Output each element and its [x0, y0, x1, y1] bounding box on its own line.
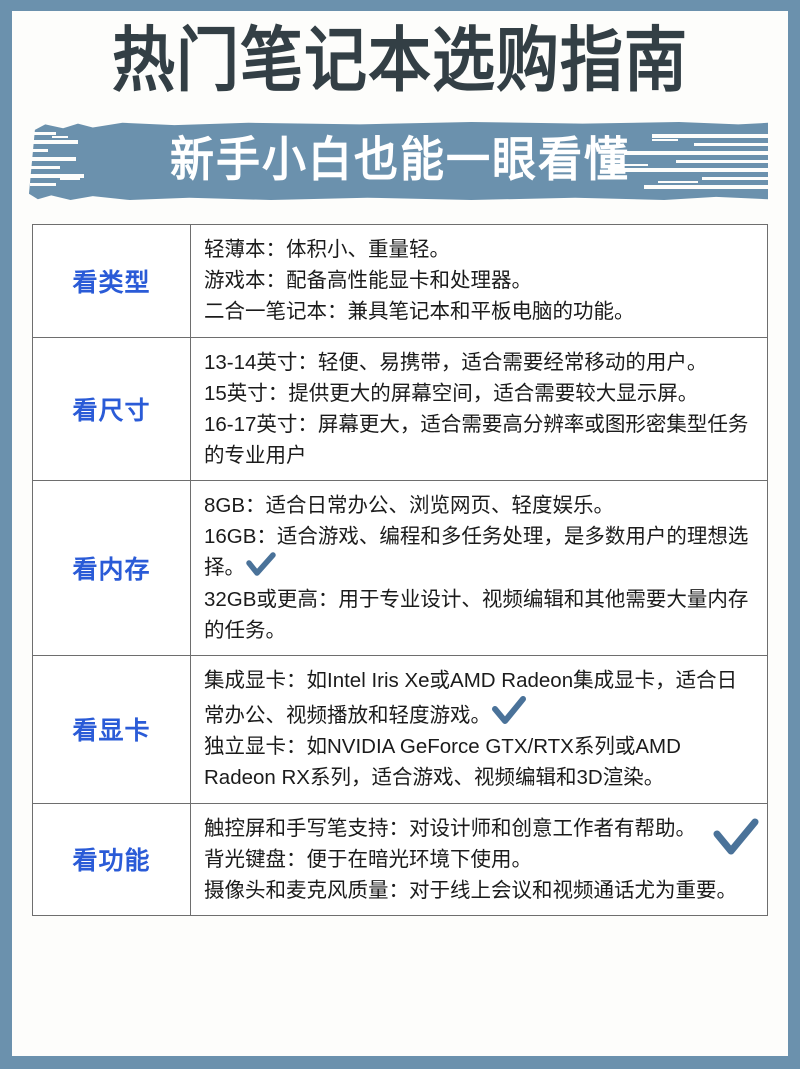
- content-line: 集成显卡：如Intel Iris Xe或AMD Radeon集成显卡，适合日常办…: [204, 665, 757, 731]
- row-content-features: 触控屏和手写笔支持：对设计师和创意工作者有帮助。 背光键盘：便于在暗光环境下使用…: [191, 803, 768, 915]
- content-line: 摄像头和麦克风质量：对于线上会议和视频通话尤为重要。: [204, 875, 757, 906]
- buying-guide-table: 看类型 轻薄本：体积小、重量轻。 游戏本：配备高性能显卡和处理器。 二合一笔记本…: [32, 224, 768, 916]
- table-row: 看尺寸 13-14英寸：轻便、易携带，适合需要经常移动的用户。 15英寸：提供更…: [33, 337, 768, 481]
- page-subtitle: 新手小白也能一眼看懂: [12, 128, 788, 195]
- table-row: 看类型 轻薄本：体积小、重量轻。 游戏本：配备高性能显卡和处理器。 二合一笔记本…: [33, 225, 768, 337]
- row-content-gpu: 集成显卡：如Intel Iris Xe或AMD Radeon集成显卡，适合日常办…: [191, 655, 768, 803]
- table-row: 看显卡 集成显卡：如Intel Iris Xe或AMD Radeon集成显卡，适…: [33, 655, 768, 803]
- content-line: 16GB：适合游戏、编程和多任务处理，是多数用户的理想选择。: [204, 521, 757, 583]
- subtitle-banner: 新手小白也能一眼看懂: [12, 116, 788, 208]
- content-line: 32GB或更高：用于专业设计、视频编辑和其他需要大量内存的任务。: [204, 584, 757, 646]
- title-block: 热门笔记本选购指南: [12, 11, 788, 91]
- content-line: 触控屏和手写笔支持：对设计师和创意工作者有帮助。: [204, 813, 757, 844]
- content-line: 15英寸：提供更大的屏幕空间，适合需要较大显示屏。: [204, 378, 757, 409]
- row-content-memory: 8GB：适合日常办公、浏览网页、轻度娱乐。 16GB：适合游戏、编程和多任务处理…: [191, 481, 768, 656]
- content-line: 16-17英寸：屏幕更大，适合需要高分辨率或图形密集型任务的专业用户: [204, 409, 757, 471]
- table-row: 看内存 8GB：适合日常办公、浏览网页、轻度娱乐。 16GB：适合游戏、编程和多…: [33, 481, 768, 656]
- content-line: 13-14英寸：轻便、易携带，适合需要经常移动的用户。: [204, 347, 757, 378]
- content-line: 独立显卡：如NVIDIA GeForce GTX/RTX系列或AMD Radeo…: [204, 731, 757, 793]
- table-row: 看功能 触控屏和手写笔支持：对设计师和创意工作者有帮助。 背光键盘：便于在暗光环…: [33, 803, 768, 915]
- row-label-type: 看类型: [33, 225, 191, 337]
- content-line: 背光键盘：便于在暗光环境下使用。: [204, 844, 757, 875]
- row-label-size: 看尺寸: [33, 337, 191, 481]
- poster-page: 热门笔记本选购指南 新手小白也能一眼看懂: [0, 0, 800, 1069]
- check-mark-icon: [246, 552, 276, 578]
- row-label-memory: 看内存: [33, 481, 191, 656]
- check-mark-icon: [713, 818, 759, 867]
- page-title: 热门笔记本选购指南: [12, 23, 788, 99]
- content-line: 8GB：适合日常办公、浏览网页、轻度娱乐。: [204, 490, 757, 521]
- row-label-gpu: 看显卡: [33, 655, 191, 803]
- content-line-text: 16GB：适合游戏、编程和多任务处理，是多数用户的理想选择。: [204, 525, 748, 579]
- row-label-features: 看功能: [33, 803, 191, 915]
- poster-sheet: 热门笔记本选购指南 新手小白也能一眼看懂: [12, 11, 788, 1056]
- content-line: 二合一笔记本：兼具笔记本和平板电脑的功能。: [204, 296, 757, 327]
- row-content-size: 13-14英寸：轻便、易携带，适合需要经常移动的用户。 15英寸：提供更大的屏幕…: [191, 337, 768, 481]
- check-mark-icon: [492, 696, 526, 726]
- row-content-type: 轻薄本：体积小、重量轻。 游戏本：配备高性能显卡和处理器。 二合一笔记本：兼具笔…: [191, 225, 768, 337]
- content-line: 轻薄本：体积小、重量轻。: [204, 234, 757, 265]
- content-line-text: 集成显卡：如Intel Iris Xe或AMD Radeon集成显卡，适合日常办…: [204, 669, 737, 727]
- content-line: 游戏本：配备高性能显卡和处理器。: [204, 265, 757, 296]
